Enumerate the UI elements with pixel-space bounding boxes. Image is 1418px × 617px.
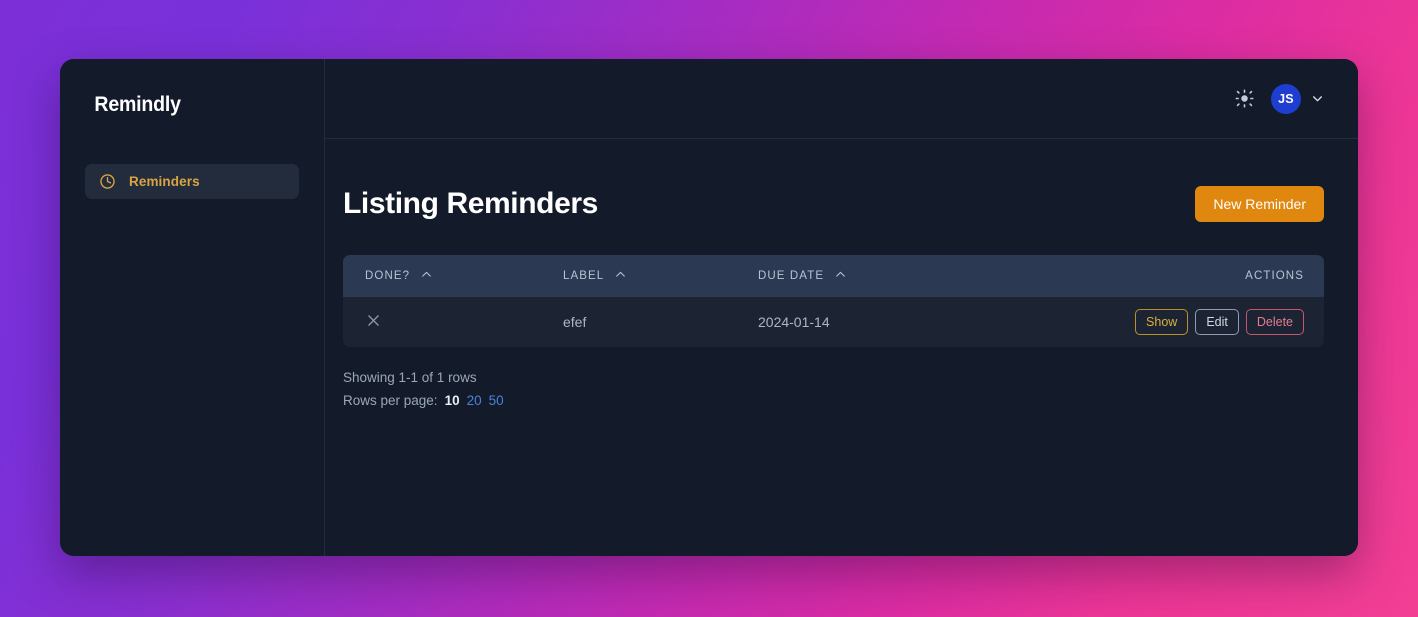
table-header-row: Done? Label [343, 255, 1324, 297]
table: Done? Label [343, 255, 1324, 347]
page-size-20[interactable]: 20 [467, 390, 482, 411]
chevron-up-icon[interactable] [420, 268, 433, 284]
table-head: Done? Label [343, 255, 1324, 297]
table-row: efef 2024-01-14 Show Edit Delete [343, 297, 1324, 347]
sun-icon[interactable] [1232, 87, 1256, 111]
page-title: Listing Reminders [343, 187, 598, 221]
cell-actions: Show Edit Delete [1058, 297, 1324, 347]
show-button[interactable]: Show [1135, 309, 1188, 335]
delete-button[interactable]: Delete [1246, 309, 1304, 335]
column-label-label: Label [563, 270, 604, 282]
showing-count: Showing 1-1 of 1 rows [343, 367, 1324, 388]
clock-icon [99, 173, 116, 190]
column-header-label[interactable]: Label [563, 255, 758, 297]
edit-button[interactable]: Edit [1195, 309, 1239, 335]
cell-done [343, 297, 563, 347]
x-icon [365, 316, 382, 332]
table-body: efef 2024-01-14 Show Edit Delete [343, 297, 1324, 347]
main-area: JS Listing Reminders New Reminder [325, 59, 1358, 556]
column-header-actions: Actions [1058, 255, 1324, 297]
top-bar: JS [325, 59, 1358, 139]
page-size-50[interactable]: 50 [489, 390, 504, 411]
column-label-actions: Actions [1245, 270, 1304, 282]
app-logo: Remindly [60, 92, 306, 118]
new-reminder-button[interactable]: New Reminder [1195, 186, 1324, 222]
chevron-up-icon[interactable] [614, 268, 627, 284]
reminders-table: Done? Label [343, 255, 1324, 347]
chevron-down-icon[interactable] [1310, 92, 1324, 106]
cell-label: efef [563, 297, 758, 347]
column-label-done: Done? [365, 270, 410, 282]
sidebar-item-label: Reminders [129, 174, 200, 189]
content-area: Listing Reminders New Reminder Done? [325, 139, 1358, 556]
sidebar-nav: Reminders [60, 164, 324, 199]
cell-due-date: 2024-01-14 [758, 297, 1058, 347]
avatar: JS [1271, 84, 1301, 114]
rows-per-page: Rows per page: 10 20 50 [343, 390, 1324, 411]
column-header-due-date[interactable]: Due Date [758, 255, 1058, 297]
column-label-due-date: Due Date [758, 270, 824, 282]
page-size-10[interactable]: 10 [445, 390, 460, 411]
user-menu[interactable]: JS [1271, 84, 1324, 114]
sidebar: Remindly Reminders [60, 59, 325, 556]
app-window: Remindly Reminders [60, 59, 1358, 556]
table-footer: Showing 1-1 of 1 rows Rows per page: 10 … [343, 367, 1324, 411]
column-header-done[interactable]: Done? [343, 255, 563, 297]
sidebar-item-reminders[interactable]: Reminders [85, 164, 299, 199]
rows-per-page-label: Rows per page: [343, 390, 438, 411]
page-header: Listing Reminders New Reminder [343, 186, 1324, 222]
chevron-up-icon[interactable] [834, 268, 847, 284]
